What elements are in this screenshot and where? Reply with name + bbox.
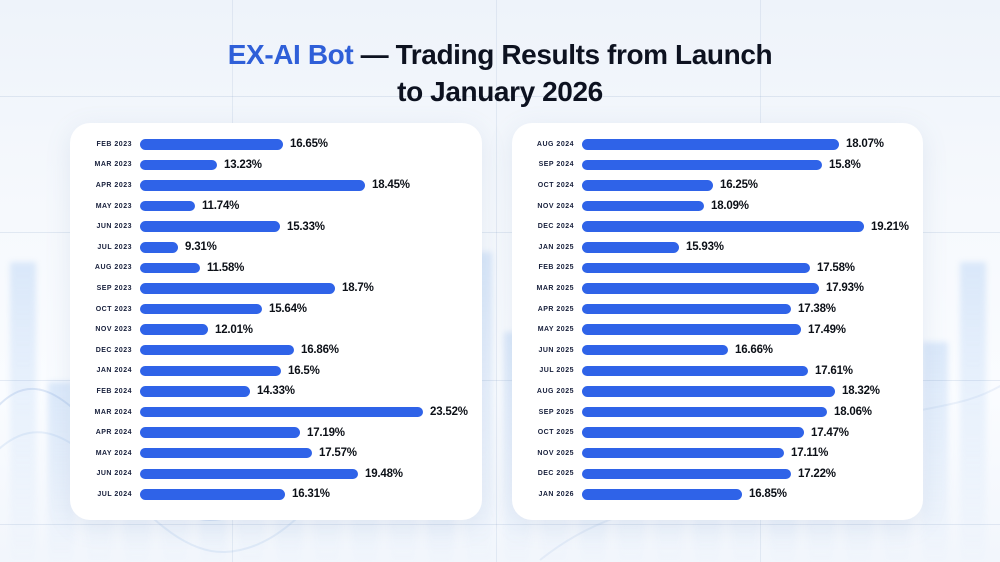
bar-row: FEB 202517.58%	[512, 258, 923, 279]
bar-value-label: 17.47%	[811, 427, 849, 439]
bar-track: 15.64%	[140, 299, 482, 320]
bar	[582, 283, 819, 294]
bar-value-label: 15.8%	[829, 159, 861, 171]
bar-row-label: NOV 2023	[70, 326, 140, 333]
bar	[582, 407, 827, 418]
bar-row-label: APR 2024	[70, 429, 140, 436]
bar-row-label: FEB 2023	[70, 141, 140, 148]
bar	[582, 304, 791, 315]
bar-row: APR 202417.19%	[70, 422, 482, 443]
bar	[582, 263, 810, 274]
bar-row-label: AUG 2023	[70, 264, 140, 271]
bar-row-label: SEP 2024	[512, 161, 582, 168]
bar-row-label: APR 2025	[512, 306, 582, 313]
bar-row: APR 202517.38%	[512, 299, 923, 320]
bar-value-label: 16.66%	[735, 344, 773, 356]
chart-card-left: FEB 202316.65%MAR 202313.23%APR 202318.4…	[70, 123, 482, 520]
bar-track: 16.31%	[140, 484, 482, 505]
bar-value-label: 18.09%	[711, 200, 749, 212]
bar-row-label: AUG 2025	[512, 388, 582, 395]
bar-track: 15.8%	[582, 155, 923, 176]
bar-row: AUG 202518.32%	[512, 381, 923, 402]
bar-row-label: JAN 2024	[70, 367, 140, 374]
bar-row: DEC 202419.21%	[512, 216, 923, 237]
bar	[140, 386, 250, 397]
bar	[140, 201, 195, 212]
bar-row: FEB 202414.33%	[70, 381, 482, 402]
bar-track: 17.11%	[582, 443, 923, 464]
bar-value-label: 15.93%	[686, 241, 724, 253]
bar-row: OCT 202315.64%	[70, 299, 482, 320]
bar-row-label: SEP 2023	[70, 285, 140, 292]
bar-row: JUN 202315.33%	[70, 216, 482, 237]
bar-track: 23.52%	[140, 402, 482, 423]
bar	[582, 242, 679, 253]
bar-row-label: FEB 2024	[70, 388, 140, 395]
bar	[582, 160, 822, 171]
bar	[140, 139, 283, 150]
bar	[140, 180, 365, 191]
bar-row: MAY 202417.57%	[70, 443, 482, 464]
title-line-2: to January 2026	[0, 73, 1000, 110]
bar-row-label: JAN 2026	[512, 491, 582, 498]
bar-row-label: OCT 2024	[512, 182, 582, 189]
bar	[140, 448, 312, 459]
bar-row: NOV 202517.11%	[512, 443, 923, 464]
bar-row: JUL 202517.61%	[512, 361, 923, 382]
bar-row-label: JUL 2025	[512, 367, 582, 374]
bar-row: MAR 202517.93%	[512, 278, 923, 299]
page-title: EX-AI Bot — Trading Results from Launch …	[0, 36, 1000, 110]
bar-value-label: 17.38%	[798, 303, 836, 315]
bar-track: 17.93%	[582, 278, 923, 299]
bar	[140, 263, 200, 274]
bar-row-label: DEC 2023	[70, 347, 140, 354]
bar-value-label: 18.07%	[846, 138, 884, 150]
bar-value-label: 17.61%	[815, 365, 853, 377]
bar-row: AUG 202311.58%	[70, 258, 482, 279]
bar-track: 12.01%	[140, 319, 482, 340]
bar-row-label: OCT 2025	[512, 429, 582, 436]
bar-track: 17.22%	[582, 464, 923, 485]
bar	[582, 139, 839, 150]
bar-track: 16.66%	[582, 340, 923, 361]
bar-track: 19.21%	[582, 216, 923, 237]
bar-row: JUL 202416.31%	[70, 484, 482, 505]
bar-track: 18.06%	[582, 402, 923, 423]
bar-row-label: MAR 2023	[70, 161, 140, 168]
bar-value-label: 13.23%	[224, 159, 262, 171]
bar-value-label: 19.48%	[365, 468, 403, 480]
bar-value-label: 17.58%	[817, 262, 855, 274]
bar-track: 15.93%	[582, 237, 923, 258]
bar-row: JUN 202419.48%	[70, 464, 482, 485]
bar-track: 16.5%	[140, 361, 482, 382]
bar-row-label: JUN 2023	[70, 223, 140, 230]
bar-track: 18.7%	[140, 278, 482, 299]
bar	[140, 489, 285, 500]
bar-row: OCT 202416.25%	[512, 175, 923, 196]
bar	[140, 304, 262, 315]
bar-row-list-left: FEB 202316.65%MAR 202313.23%APR 202318.4…	[70, 123, 482, 505]
bar-value-label: 16.31%	[292, 488, 330, 500]
bar-row: SEP 202518.06%	[512, 402, 923, 423]
bar-track: 17.49%	[582, 319, 923, 340]
bar-value-label: 17.22%	[798, 468, 836, 480]
bar-row-label: JUN 2025	[512, 347, 582, 354]
bar-track: 17.47%	[582, 422, 923, 443]
bar	[140, 407, 423, 418]
bar-track: 13.23%	[140, 155, 482, 176]
background-gridline	[0, 524, 1000, 525]
bar-row-label: MAR 2024	[70, 409, 140, 416]
bar-value-label: 17.93%	[826, 282, 864, 294]
bar-row-label: FEB 2025	[512, 264, 582, 271]
bar-value-label: 17.57%	[319, 447, 357, 459]
bar-value-label: 11.58%	[207, 262, 244, 274]
bar-track: 18.09%	[582, 196, 923, 217]
bar-row: JAN 202616.85%	[512, 484, 923, 505]
bar-track: 17.38%	[582, 299, 923, 320]
bar-value-label: 19.21%	[871, 221, 909, 233]
bar-value-label: 18.06%	[834, 406, 872, 418]
bar	[140, 324, 208, 335]
bar	[582, 386, 835, 397]
bar-value-label: 12.01%	[215, 324, 253, 336]
bar-track: 15.33%	[140, 216, 482, 237]
bar-row: JUN 202516.66%	[512, 340, 923, 361]
bar-track: 16.25%	[582, 175, 923, 196]
title-accent: EX-AI Bot	[228, 39, 354, 70]
bar-track: 16.65%	[140, 134, 482, 155]
bar-track: 18.07%	[582, 134, 923, 155]
bar	[582, 489, 742, 500]
bar-row-label: SEP 2025	[512, 409, 582, 416]
bar	[140, 345, 294, 356]
bar-row: MAY 202311.74%	[70, 196, 482, 217]
bar-value-label: 15.64%	[269, 303, 307, 315]
bar-row-label: JUL 2023	[70, 244, 140, 251]
bar-row-label: OCT 2023	[70, 306, 140, 313]
bar-value-label: 16.86%	[301, 344, 339, 356]
bar-row: JAN 202416.5%	[70, 361, 482, 382]
bar	[582, 324, 801, 335]
bar-row: JAN 202515.93%	[512, 237, 923, 258]
bar-value-label: 23.52%	[430, 406, 468, 418]
bar-track: 16.85%	[582, 484, 923, 505]
bar-value-label: 9.31%	[185, 241, 217, 253]
bar-track: 17.57%	[140, 443, 482, 464]
bar-row-list-right: AUG 202418.07%SEP 202415.8%OCT 202416.25…	[512, 123, 923, 505]
bar	[140, 427, 300, 438]
bar-row: MAY 202517.49%	[512, 319, 923, 340]
bar	[140, 366, 281, 377]
bar	[140, 221, 280, 232]
title-line-1: EX-AI Bot — Trading Results from Launch	[0, 36, 1000, 73]
bar-value-label: 11.74%	[202, 200, 239, 212]
bar	[582, 448, 784, 459]
bar	[140, 469, 358, 480]
bar	[582, 180, 713, 191]
bar-row: JUL 20239.31%	[70, 237, 482, 258]
bar-value-label: 18.7%	[342, 282, 374, 294]
bar-track: 11.74%	[140, 196, 482, 217]
bar-row-label: NOV 2025	[512, 450, 582, 457]
bar-track: 17.58%	[582, 258, 923, 279]
bar-row-label: JUN 2024	[70, 470, 140, 477]
bar-track: 11.58%	[140, 258, 482, 279]
bar-value-label: 14.33%	[257, 385, 295, 397]
bar-row: MAR 202423.52%	[70, 402, 482, 423]
bar	[582, 201, 704, 212]
bar	[140, 242, 178, 253]
bar-row: DEC 202517.22%	[512, 464, 923, 485]
bar-row-label: DEC 2025	[512, 470, 582, 477]
bar-row: MAR 202313.23%	[70, 155, 482, 176]
bar-track: 18.45%	[140, 175, 482, 196]
bar-row: DEC 202316.86%	[70, 340, 482, 361]
bar-row-label: APR 2023	[70, 182, 140, 189]
bar-value-label: 16.25%	[720, 179, 758, 191]
bar-row-label: MAY 2023	[70, 203, 140, 210]
bar-track: 17.19%	[140, 422, 482, 443]
bar-value-label: 17.49%	[808, 324, 846, 336]
bar-row-label: JAN 2025	[512, 244, 582, 251]
bar-row-label: MAY 2025	[512, 326, 582, 333]
bar-value-label: 17.11%	[791, 447, 828, 459]
bar	[582, 345, 728, 356]
title-rest: — Trading Results from Launch	[353, 39, 772, 70]
bar	[582, 366, 808, 377]
bar-value-label: 16.5%	[288, 365, 320, 377]
bar	[140, 160, 217, 171]
bar	[582, 427, 804, 438]
bar-value-label: 17.19%	[307, 427, 345, 439]
chart-card-right: AUG 202418.07%SEP 202415.8%OCT 202416.25…	[512, 123, 923, 520]
bar-row-label: DEC 2024	[512, 223, 582, 230]
bar-track: 17.61%	[582, 361, 923, 382]
bar-value-label: 15.33%	[287, 221, 325, 233]
bar-row: SEP 202318.7%	[70, 278, 482, 299]
bar-row-label: JUL 2024	[70, 491, 140, 498]
bar-row: FEB 202316.65%	[70, 134, 482, 155]
bar-track: 19.48%	[140, 464, 482, 485]
bar-value-label: 16.85%	[749, 488, 787, 500]
bar-row: NOV 202418.09%	[512, 196, 923, 217]
bar-track: 9.31%	[140, 237, 482, 258]
bar-row: AUG 202418.07%	[512, 134, 923, 155]
bar-track: 14.33%	[140, 381, 482, 402]
bar	[140, 283, 335, 294]
bar-value-label: 18.32%	[842, 385, 880, 397]
bar-row: SEP 202415.8%	[512, 155, 923, 176]
bar-track: 18.32%	[582, 381, 923, 402]
bar	[582, 469, 791, 480]
bar-value-label: 18.45%	[372, 179, 410, 191]
bar-row-label: MAR 2025	[512, 285, 582, 292]
bar-row-label: NOV 2024	[512, 203, 582, 210]
bar-row: APR 202318.45%	[70, 175, 482, 196]
bar-row-label: MAY 2024	[70, 450, 140, 457]
bar-row: OCT 202517.47%	[512, 422, 923, 443]
bar-track: 16.86%	[140, 340, 482, 361]
bar	[582, 221, 864, 232]
bar-value-label: 16.65%	[290, 138, 328, 150]
bar-row: NOV 202312.01%	[70, 319, 482, 340]
bar-row-label: AUG 2024	[512, 141, 582, 148]
